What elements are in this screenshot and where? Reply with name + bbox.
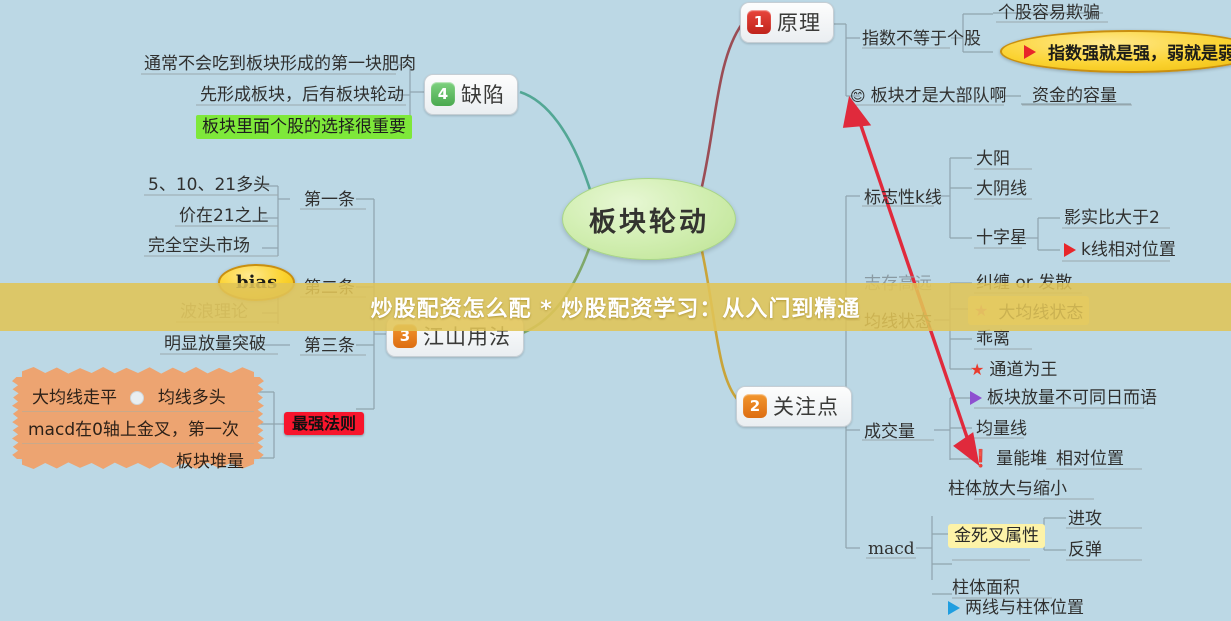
topic-kline-label: 标志性k线	[864, 188, 942, 208]
topic-stock-deceives[interactable]: 个股容易欺骗	[994, 1, 1104, 26]
topic-defect-sector-first[interactable]: 先形成板块，后有板块轮动	[196, 83, 408, 108]
topic-stock-deceives-label: 个股容易欺骗	[998, 3, 1100, 23]
topic-capital-capacity-label: 资金的容量	[1032, 86, 1117, 106]
callout-index-strength[interactable]: 指数强就是强，弱就是弱	[1000, 30, 1231, 73]
topic-index-vs-stock-label: 指数不等于个股	[862, 29, 981, 49]
topic-rule-3[interactable]: 第三条	[300, 334, 359, 359]
play-triangle-icon	[948, 601, 960, 615]
topic-avg-volume-line[interactable]: 均量线	[972, 417, 1031, 442]
topic-macd[interactable]: macd	[864, 537, 919, 562]
topic-rule-1[interactable]: 第一条	[300, 188, 359, 213]
branch-defect-label: 缺陷	[461, 79, 505, 109]
root-node[interactable]: 板块轮动	[562, 178, 736, 260]
topic-lines-vs-bar-position[interactable]: 两线与柱体位置	[944, 596, 1088, 621]
branch-principle[interactable]: 1 原理	[740, 2, 834, 43]
topic-capital-capacity[interactable]: 资金的容量	[1028, 84, 1121, 109]
topic-macd-label: macd	[868, 539, 915, 559]
topic-index-vs-stock[interactable]: 指数不等于个股	[858, 27, 985, 52]
topic-golden-dead-cross-attr[interactable]: 金死叉属性	[948, 521, 1045, 546]
branch-focus[interactable]: 2 关注点	[736, 386, 852, 427]
branch-focus-label: 关注点	[773, 391, 839, 421]
topic-kline-big-yang[interactable]: 大阳	[972, 147, 1014, 172]
branch-number-1: 1	[747, 10, 771, 34]
branch-number-2: 2	[743, 394, 767, 418]
topic-kline-relative-position[interactable]: k线相对位置	[1060, 238, 1180, 263]
orange-row-3[interactable]: 板块堆量	[22, 443, 254, 475]
topic-attack[interactable]: 进攻	[1064, 507, 1106, 532]
topic-kline-big-yin[interactable]: 大阴线	[972, 177, 1031, 202]
branch-defect[interactable]: 4 缺陷	[424, 74, 518, 115]
play-triangle-icon	[1024, 45, 1036, 59]
strongest-rule-cluster[interactable]: 大均线走平 均线多头 macd在0轴上金叉，第一次 板块堆量	[22, 377, 254, 459]
mindmap-canvas: 板块轮动 1 原理 指数不等于个股 个股容易欺骗 指数强就是强，弱就是弱 😊板块…	[0, 0, 1231, 612]
topic-sector-is-army[interactable]: 😊板块才是大部队啊	[846, 84, 1011, 109]
topic-channel-is-king[interactable]: ★通道为王	[966, 358, 1061, 383]
topic-kline[interactable]: 标志性k线	[860, 186, 946, 211]
topic-strongest-rule[interactable]: 最强法则	[284, 410, 364, 434]
topic-sector-volume-surge[interactable]: 板块放量不可同日而语	[966, 386, 1161, 411]
star-icon: ★	[970, 362, 984, 378]
smile-emoji-icon: 😊	[850, 85, 866, 107]
orange-row-2[interactable]: macd在0轴上金叉，第一次	[22, 411, 254, 443]
branch-number-4: 4	[431, 82, 455, 106]
bullet-dot-icon	[130, 391, 144, 405]
callout-index-strength-label: 指数强就是强，弱就是弱	[1048, 39, 1231, 64]
branch-principle-label: 原理	[777, 7, 821, 37]
topic-volume[interactable]: 成交量	[860, 420, 919, 445]
topic-bar-expand-shrink[interactable]: 柱体放大与缩小	[944, 477, 1071, 502]
topic-volume-label: 成交量	[864, 422, 915, 442]
topic-shadow-ratio[interactable]: 影实比大于2	[1060, 206, 1164, 231]
ad-banner-text: 炒股配资怎么配 * 炒股配资学习：从入门到精通	[0, 283, 1231, 331]
ad-banner-label: 炒股配资怎么配 * 炒股配资学习：从入门到精通	[371, 291, 861, 323]
topic-kline-doji[interactable]: 十字星	[972, 226, 1031, 251]
exclamation-icon: ❗	[970, 448, 991, 470]
topic-rule1-item-1[interactable]: 5、10、21多头	[144, 173, 274, 198]
topic-defect-first-meat[interactable]: 通常不会吃到板块形成的第一块肥肉	[140, 52, 420, 77]
play-triangle-icon	[970, 391, 982, 405]
topic-rule1-item-2[interactable]: 价在21之上	[175, 204, 273, 229]
topic-defect-stock-selection[interactable]: 板块里面个股的选择很重要	[196, 112, 412, 137]
root-label: 板块轮动	[589, 200, 709, 239]
play-triangle-icon	[1064, 243, 1076, 257]
topic-rebound[interactable]: 反弹	[1064, 538, 1106, 563]
topic-volume-stack[interactable]: ❗量能堆	[966, 447, 1051, 472]
orange-row-1[interactable]: 大均线走平 均线多头	[22, 377, 254, 411]
topic-rule3-item-1[interactable]: 明显放量突破	[160, 332, 270, 357]
topic-rule1-item-3[interactable]: 完全空头市场	[144, 234, 254, 259]
topic-sector-is-army-label: 板块才是大部队啊	[871, 86, 1007, 106]
cluster-edge-right	[253, 377, 264, 459]
topic-volume-relative-position[interactable]: 相对位置	[1052, 447, 1128, 472]
